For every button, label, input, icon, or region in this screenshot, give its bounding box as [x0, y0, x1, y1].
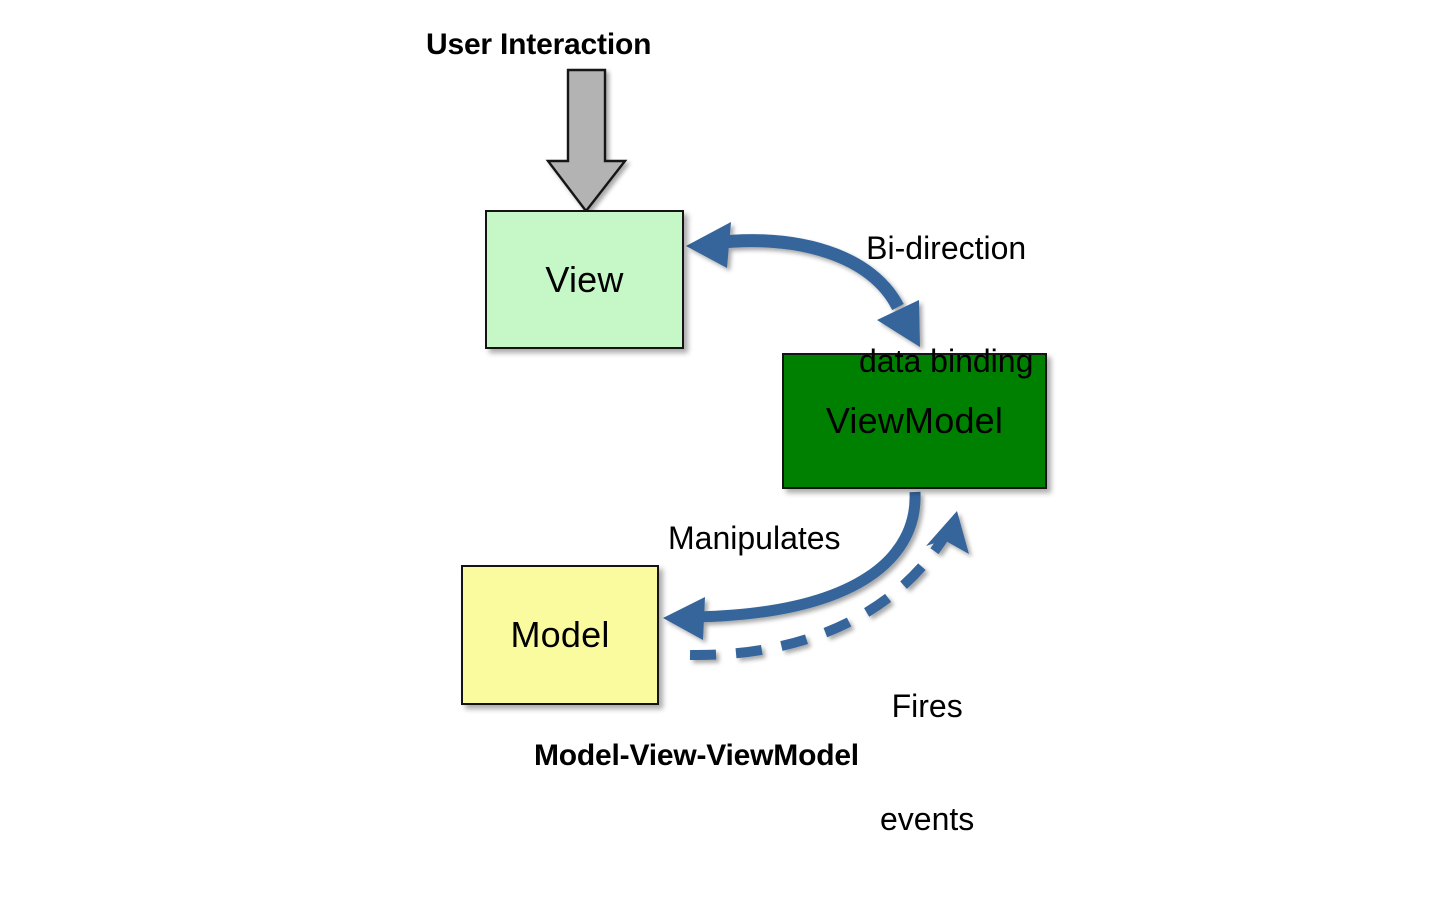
node-view-label: View — [545, 262, 623, 298]
user-interaction-block-arrow — [548, 70, 625, 211]
edge-label-manipulates: Manipulates — [668, 520, 841, 558]
edge-label-binding: Bi-direction data binding — [859, 154, 1033, 456]
connector-layer — [0, 0, 1440, 810]
manipulates-arrow — [663, 492, 915, 640]
edge-label-binding-line2: data binding — [859, 343, 1033, 381]
node-model[interactable]: Model — [461, 565, 659, 705]
edge-label-fires-events-line2: events — [880, 801, 974, 839]
node-model-label: Model — [510, 617, 609, 653]
edge-label-fires-events-line1: Fires — [880, 688, 974, 726]
mvvm-diagram: View ViewModel Model User Interaction Bi… — [0, 0, 1440, 810]
node-view[interactable]: View — [485, 210, 684, 349]
user-interaction-title: User Interaction — [426, 27, 651, 62]
edge-label-fires-events: Fires events — [880, 612, 974, 914]
edge-label-binding-line1: Bi-direction — [859, 230, 1033, 268]
diagram-caption: Model-View-ViewModel — [534, 738, 859, 773]
